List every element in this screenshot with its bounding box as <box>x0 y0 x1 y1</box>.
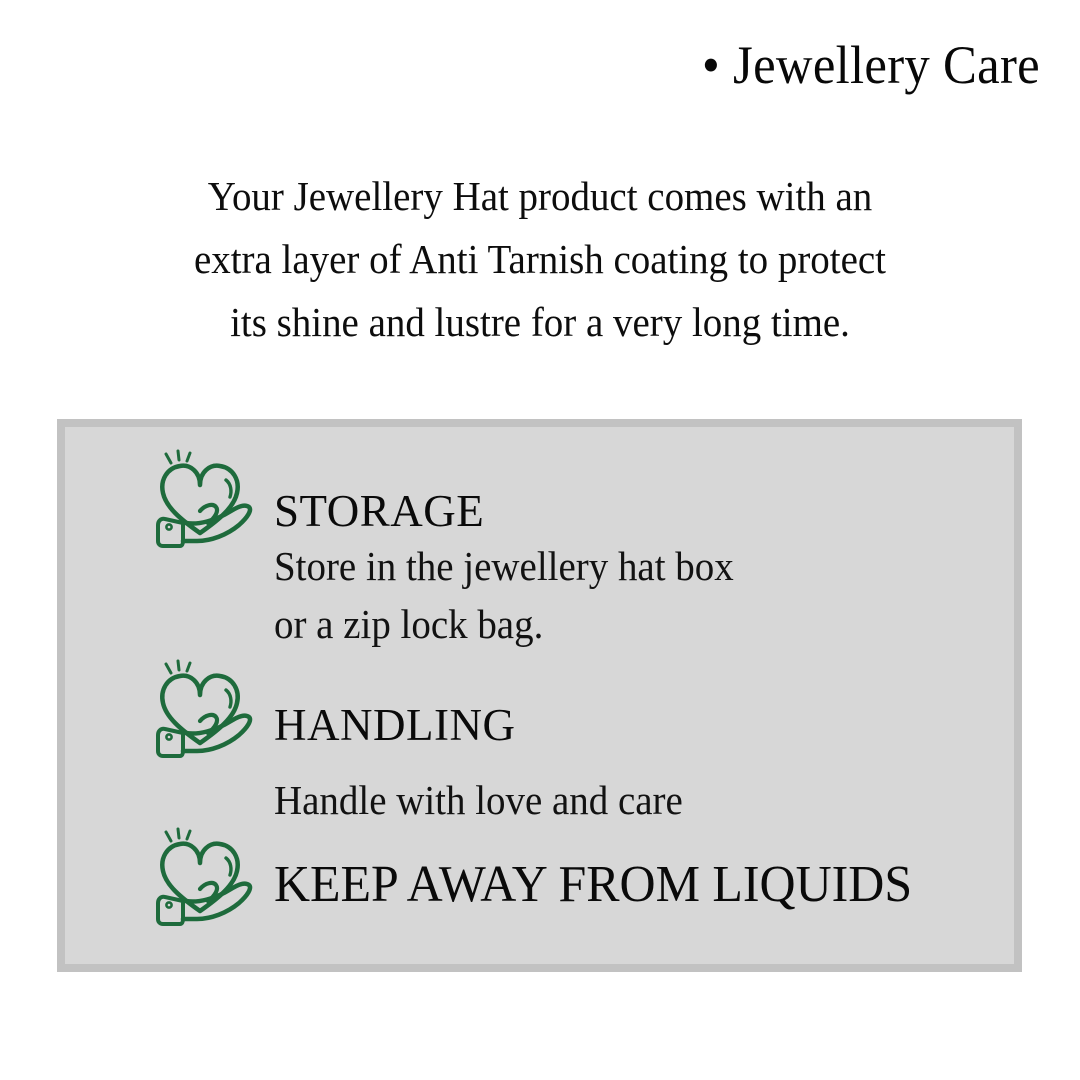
intro-line-3: its shine and lustre for a very long tim… <box>84 291 996 354</box>
care-detail-storage-line-2: or a zip lock bag. <box>274 595 968 653</box>
care-row-handling-text: HANDLING Handle with love and care <box>274 659 1004 829</box>
care-detail-storage-line-1: Store in the jewellery hat box <box>274 537 968 595</box>
intro-line-1: Your Jewellery Hat product comes with an <box>84 165 996 228</box>
title-text: Jewellery Care <box>733 35 1040 95</box>
care-heading-storage: STORAGE <box>274 485 1004 537</box>
heart-in-hand-icon <box>153 827 257 927</box>
page-title: • Jewellery Care <box>62 34 1040 96</box>
heart-in-hand-icon <box>153 659 257 759</box>
care-row-storage-text: STORAGE Store in the jewellery hat box o… <box>274 449 1004 653</box>
care-instructions-card: STORAGE Store in the jewellery hat box o… <box>57 419 1022 972</box>
care-heading-liquids: KEEP AWAY FROM LIQUIDS <box>274 855 975 915</box>
heart-in-hand-icon <box>153 449 257 549</box>
intro-paragraph: Your Jewellery Hat product comes with an… <box>84 165 996 354</box>
title-bullet: • <box>702 35 720 95</box>
intro-line-2: extra layer of Anti Tarnish coating to p… <box>84 228 996 291</box>
care-heading-handling: HANDLING <box>274 699 1004 751</box>
care-detail-handling-line-1: Handle with love and care <box>274 771 968 829</box>
care-row-liquids-text: KEEP AWAY FROM LIQUIDS <box>274 827 1004 915</box>
